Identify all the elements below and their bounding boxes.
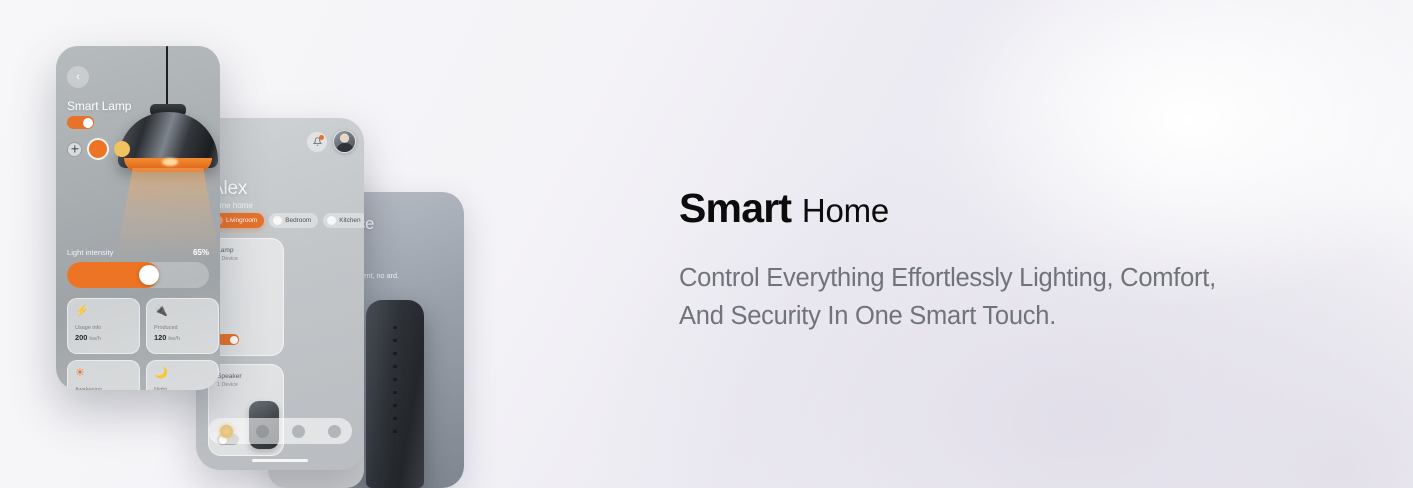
headline-strong: Smart bbox=[679, 185, 791, 231]
stat-card-awakening[interactable]: ☀ Awakening 09:00 AM - 10:00AM bbox=[67, 360, 140, 390]
back-button[interactable] bbox=[67, 66, 89, 88]
color-swatch-orange[interactable] bbox=[89, 140, 107, 158]
room-tab-bedroom-label: Bedroom bbox=[285, 217, 311, 224]
stat-produced-value: 120kw/h bbox=[154, 333, 211, 342]
user-avatar[interactable] bbox=[333, 130, 356, 153]
add-color-button[interactable] bbox=[67, 142, 82, 157]
page-title: Smart Lamp bbox=[67, 99, 131, 113]
lamp-light-cone bbox=[116, 168, 220, 260]
nav-chart-icon[interactable] bbox=[292, 425, 305, 438]
phone-dashboard: Alex come home Livingroom Bedroom Kitche… bbox=[196, 118, 364, 470]
lamp-bulb bbox=[162, 158, 178, 166]
stat-card-night[interactable]: 🌙 Night 09:00 AM - 10:00AM bbox=[146, 360, 219, 390]
stat-produced-unit: kw/h bbox=[168, 336, 180, 342]
bottom-navigation-bar bbox=[208, 418, 352, 444]
stat-card-usage[interactable]: ⚡ Usage info 200kw/h bbox=[67, 298, 140, 354]
notification-bell-button[interactable] bbox=[307, 132, 327, 152]
stat-produced-label: Produced bbox=[154, 325, 211, 331]
lamp-card-sub: 1 Device bbox=[217, 256, 275, 262]
light-intensity-row: Light intensity 65% bbox=[67, 248, 209, 257]
room-tab-kitchen[interactable]: Kitchen bbox=[323, 213, 364, 228]
stat-awakening-label: Awakening bbox=[75, 387, 132, 390]
page-headline: Smart Home bbox=[679, 186, 1379, 230]
headline-light: Home bbox=[802, 192, 889, 229]
sun-icon: ☀ bbox=[75, 368, 132, 379]
color-swatch-amber[interactable] bbox=[114, 141, 130, 157]
dashboard-header-actions bbox=[307, 130, 356, 153]
stat-usage-unit: kw/h bbox=[89, 336, 101, 342]
nav-user-icon[interactable] bbox=[328, 425, 341, 438]
stat-usage-value: 200kw/h bbox=[75, 333, 132, 342]
plug-icon: 🔌 bbox=[154, 306, 211, 317]
kitchen-icon bbox=[327, 216, 336, 225]
stat-produced-number: 120 bbox=[154, 333, 166, 342]
notification-dot bbox=[319, 135, 324, 140]
bed-icon bbox=[273, 216, 282, 225]
bolt-icon: ⚡ bbox=[75, 306, 132, 317]
page-subheadline: Control Everything Effortlessly Lighting… bbox=[679, 260, 1379, 335]
room-tab-bedroom[interactable]: Bedroom bbox=[269, 213, 318, 228]
speaker-card-sub: 1 Device bbox=[217, 382, 275, 388]
stat-usage-label: Usage info bbox=[75, 325, 132, 331]
room-tab-kitchen-label: Kitchen bbox=[339, 217, 360, 224]
room-tab-livingroom-label: Livingroom bbox=[226, 217, 257, 224]
home-indicator-bar bbox=[252, 459, 308, 462]
lamp-card-toggle[interactable] bbox=[217, 334, 239, 345]
room-tab-list: Livingroom Bedroom Kitchen bbox=[210, 213, 364, 228]
lamp-power-toggle-wrap bbox=[67, 116, 94, 129]
subheadline-line-2: And Security In One Smart Touch. bbox=[679, 298, 1379, 335]
subheadline-line-1: Control Everything Effortlessly Lighting… bbox=[679, 260, 1379, 297]
light-intensity-slider[interactable] bbox=[67, 262, 209, 288]
nav-home-icon[interactable] bbox=[220, 425, 233, 438]
chevron-left-icon bbox=[74, 73, 82, 81]
stat-card-grid: ⚡ Usage info 200kw/h 🔌 Produced 120kw/h … bbox=[67, 298, 209, 390]
phone-mockup-stack: y your space art control. secure, and en… bbox=[0, 0, 520, 488]
lamp-power-toggle[interactable] bbox=[67, 116, 94, 129]
moon-icon: 🌙 bbox=[154, 368, 211, 379]
hero-banner: y your space art control. secure, and en… bbox=[0, 0, 1413, 488]
hero-text-block: Smart Home Control Everything Effortless… bbox=[679, 186, 1379, 335]
speaker-card-title: Speaker bbox=[217, 373, 275, 380]
stat-card-produced[interactable]: 🔌 Produced 120kw/h bbox=[146, 298, 219, 354]
lamp-cord bbox=[166, 46, 168, 108]
smart-speaker-product-image bbox=[366, 300, 424, 488]
light-intensity-value: 65% bbox=[193, 248, 209, 257]
phone-smart-lamp-detail: Smart Lamp Light intensity 65% ⚡ Us bbox=[56, 46, 220, 390]
lamp-card-title: Lamp bbox=[217, 247, 275, 254]
stat-night-label: Night bbox=[154, 387, 211, 390]
light-intensity-label: Light intensity bbox=[67, 248, 113, 257]
nav-bulb-icon[interactable] bbox=[256, 425, 269, 438]
stat-usage-number: 200 bbox=[75, 333, 87, 342]
color-swatch-list bbox=[67, 140, 130, 158]
